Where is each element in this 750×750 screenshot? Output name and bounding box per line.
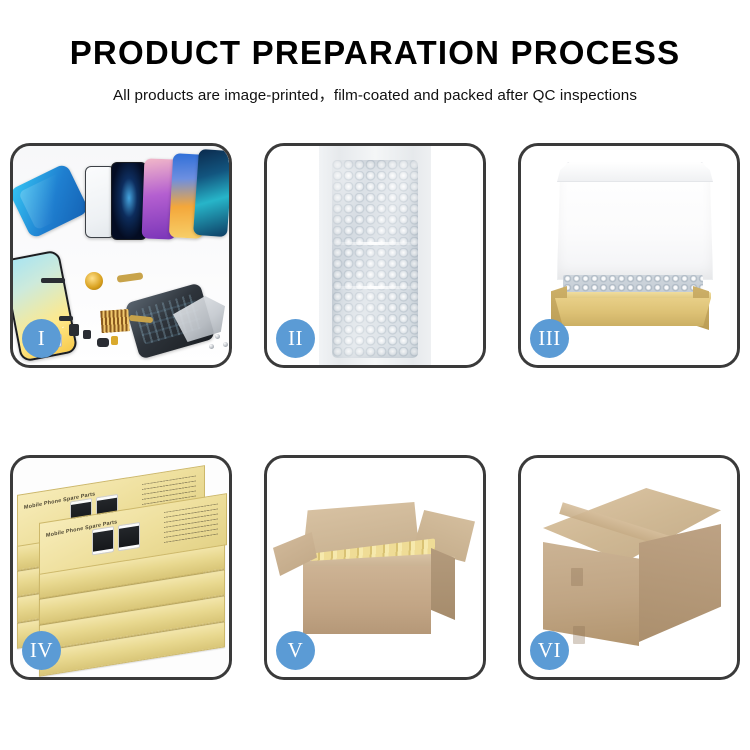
step-badge-6: VI <box>530 631 569 670</box>
screw-2 <box>223 342 228 347</box>
step-panel-6: VI <box>518 455 740 680</box>
sealed-carton-side <box>639 524 721 642</box>
box-screen-art-2 <box>118 522 140 551</box>
steps-grid: I II III <box>10 143 740 680</box>
step-badge-2: II <box>276 319 315 358</box>
inner-box-front-wall <box>555 298 711 326</box>
step-panel-1: I <box>10 143 232 368</box>
inner-box-lid-fold <box>557 162 713 182</box>
blue-back-cover <box>13 163 90 240</box>
product-preparation-infographic: PRODUCT PREPARATION PROCESS All products… <box>0 0 750 750</box>
chip-part <box>41 278 65 283</box>
box-screen-art-1 <box>92 526 114 555</box>
screw-1 <box>215 334 220 339</box>
step-badge-3: III <box>530 319 569 358</box>
carton-hand-hole-top <box>571 568 583 586</box>
step-badge-5: V <box>276 631 315 670</box>
carton-side-panel <box>431 548 455 620</box>
header: PRODUCT PREPARATION PROCESS All products… <box>0 0 750 105</box>
page-subtitle: All products are image-printed，film-coat… <box>0 83 750 105</box>
phone-teal <box>193 149 229 237</box>
step-panel-5: V <box>264 455 486 680</box>
box-spec-lines <box>164 504 218 547</box>
step-badge-1: I <box>22 319 61 358</box>
sealed-carton-front <box>543 542 639 646</box>
carton-front-panel <box>303 566 431 634</box>
flex-cable-1 <box>117 272 144 283</box>
speaker-part <box>97 338 109 347</box>
screw-3 <box>209 344 214 349</box>
vibration-motor <box>85 272 103 290</box>
step-badge-4: IV <box>22 631 61 670</box>
bubble-wrap-seam-1 <box>329 242 421 245</box>
step-panel-2: II <box>264 143 486 368</box>
page-title: PRODUCT PREPARATION PROCESS <box>0 36 750 71</box>
carton-hand-hole-bottom <box>573 626 585 644</box>
step-panel-3: III <box>518 143 740 368</box>
step-panel-4: Mobile Phone Spare Parts Mobile Phone Sp… <box>10 455 232 680</box>
battery-connector <box>111 336 118 345</box>
connector-1 <box>83 330 91 339</box>
button-flex <box>59 316 73 321</box>
bubble-wrap-sheen <box>332 160 418 358</box>
camera-module <box>69 324 79 336</box>
shield-mesh <box>100 309 129 333</box>
bubble-wrap-seam-2 <box>329 286 421 289</box>
